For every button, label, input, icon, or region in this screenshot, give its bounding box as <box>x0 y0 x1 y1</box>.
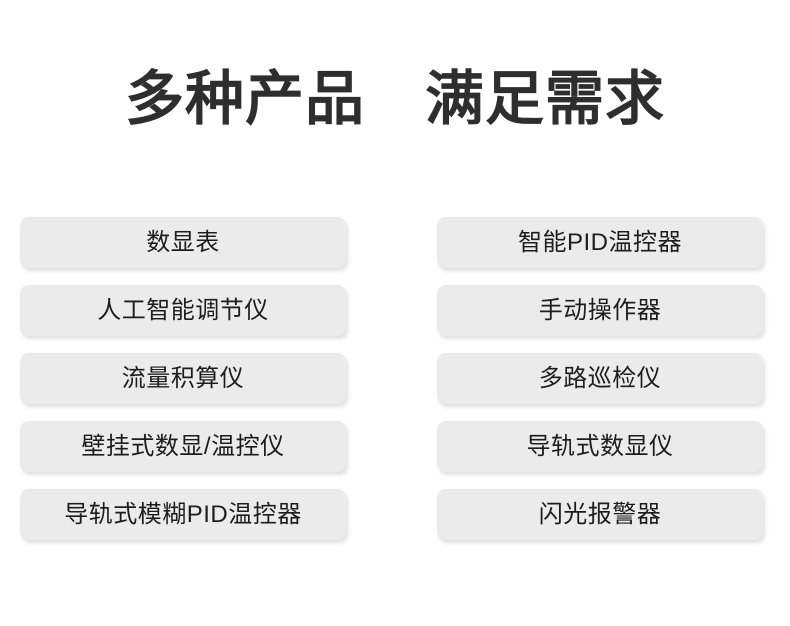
product-category-label: 导轨式模糊PID温控器 <box>64 500 302 530</box>
page-title: 多种产品 满足需求 <box>0 63 790 135</box>
product-category-button-right-1[interactable]: 智能PID温控器 <box>437 217 763 268</box>
product-category-button-left-2[interactable]: 人工智能调节仪 <box>20 285 346 336</box>
product-category-label: 壁挂式数显/温控仪 <box>81 432 284 462</box>
product-category-button-right-2[interactable]: 手动操作器 <box>437 285 763 336</box>
product-category-button-left-4[interactable]: 壁挂式数显/温控仪 <box>20 421 346 472</box>
product-category-label: 多路巡检仪 <box>539 364 662 394</box>
product-category-button-right-5[interactable]: 闪光报警器 <box>437 489 763 540</box>
product-category-banner: 多种产品 满足需求 数显表 人工智能调节仪 流量积算仪 壁挂式数显/温控仪 导轨… <box>0 0 790 626</box>
product-category-button-left-3[interactable]: 流量积算仪 <box>20 353 346 404</box>
product-category-button-right-3[interactable]: 多路巡检仪 <box>437 353 763 404</box>
product-category-label: 人工智能调节仪 <box>97 296 269 326</box>
product-column-right: 智能PID温控器 手动操作器 多路巡检仪 导轨式数显仪 闪光报警器 <box>437 217 763 549</box>
product-category-label: 导轨式数显仪 <box>527 432 674 462</box>
product-category-grid: 数显表 人工智能调节仪 流量积算仪 壁挂式数显/温控仪 导轨式模糊PID温控器 … <box>20 217 763 549</box>
product-category-label: 手动操作器 <box>539 296 662 326</box>
product-category-button-left-1[interactable]: 数显表 <box>20 217 346 268</box>
product-category-button-right-4[interactable]: 导轨式数显仪 <box>437 421 763 472</box>
product-category-label: 智能PID温控器 <box>518 228 682 258</box>
product-category-label: 数显表 <box>146 228 220 258</box>
product-column-left: 数显表 人工智能调节仪 流量积算仪 壁挂式数显/温控仪 导轨式模糊PID温控器 <box>20 217 346 549</box>
product-category-label: 闪光报警器 <box>539 500 662 530</box>
product-category-button-left-5[interactable]: 导轨式模糊PID温控器 <box>20 489 346 540</box>
product-category-label: 流量积算仪 <box>122 364 245 394</box>
